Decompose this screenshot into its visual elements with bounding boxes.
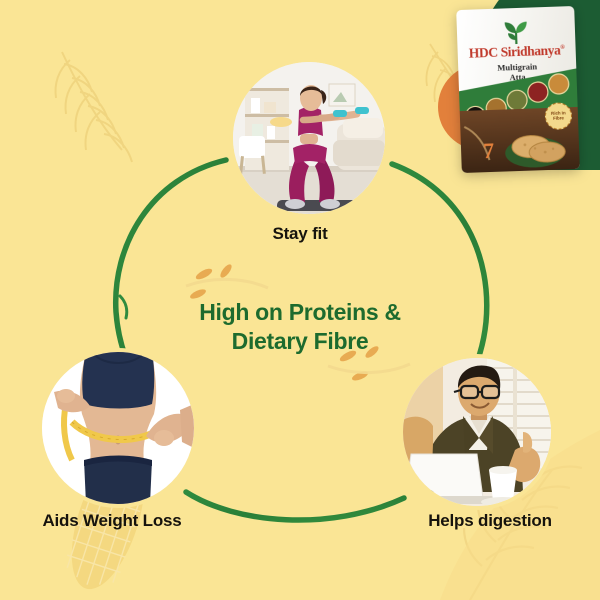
woman-exercising-photo xyxy=(233,62,385,214)
product-brand: HDC Siridhanya® xyxy=(457,42,575,62)
product-package[interactable]: HDC Siridhanya® Multigrain Atta xyxy=(456,6,580,173)
wheat-sprout-logo-icon xyxy=(501,19,532,46)
caption-stay-fit: Stay fit xyxy=(0,224,600,244)
page-title: High on Proteins & Dietary Fibre xyxy=(140,298,460,356)
infographic-canvas: Stay fit A xyxy=(0,0,600,600)
grain-count-badge: 7 xyxy=(483,138,495,164)
benefit-photo-digestion xyxy=(403,358,551,506)
headline-line-1: High on Proteins & xyxy=(140,298,460,327)
caption-digestion: Helps digestion xyxy=(190,511,600,531)
man-thumbs-up-photo xyxy=(403,358,551,506)
registered-mark-icon: ® xyxy=(560,45,564,51)
benefit-photo-weight-loss xyxy=(42,352,194,504)
waist-measuring-photo xyxy=(42,352,194,504)
headline-line-2: Dietary Fibre xyxy=(140,327,460,356)
benefit-photo-stay-fit xyxy=(233,62,385,214)
